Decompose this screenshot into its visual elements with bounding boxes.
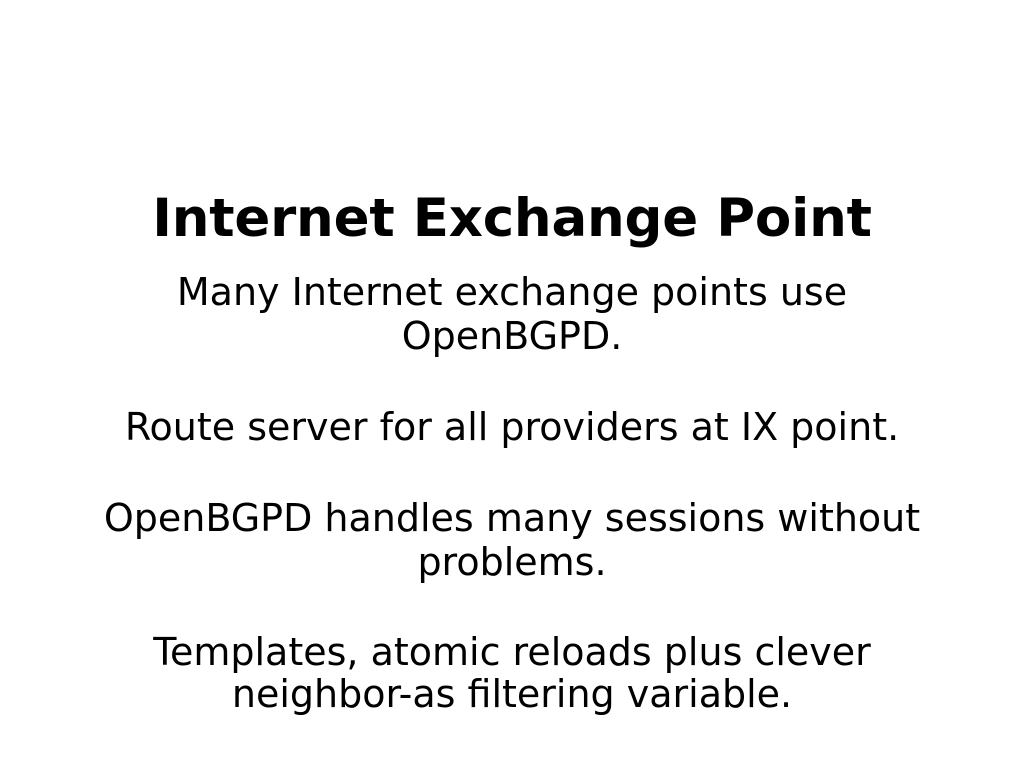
slide-body: Many Internet exchange points use OpenBG… <box>62 270 962 715</box>
body-line-1: Many Internet exchange points use OpenBG… <box>62 270 962 358</box>
body-line-4: Templates, atomic reloads plus clever ne… <box>62 631 962 715</box>
slide-title: Internet Exchange Point <box>0 188 1024 250</box>
body-line-2: Route server for all providers at IX poi… <box>62 405 962 449</box>
presentation-slide: Internet Exchange Point Many Internet ex… <box>0 0 1024 768</box>
body-line-3: OpenBGPD handles many sessions without p… <box>62 496 962 584</box>
